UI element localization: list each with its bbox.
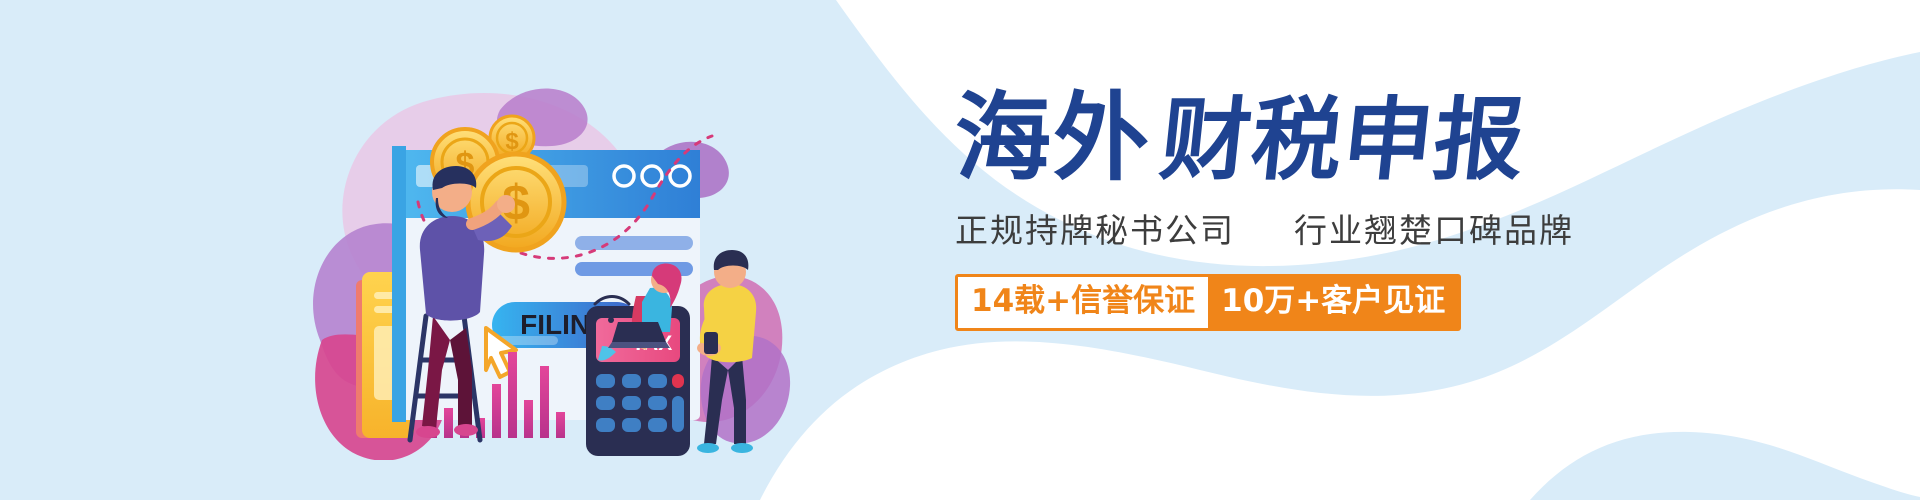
headline-part-1: 海外 [955, 90, 1151, 186]
illustration: FILING [300, 40, 800, 460]
badge-customers: 10万+客户见证 [1208, 277, 1458, 328]
subtitle-right: 行业翘楚口碑品牌 [1294, 211, 1574, 250]
promo-banner: FILING [0, 0, 1920, 500]
badge-group: 14载+信誉保证 10万+客户见证 [955, 274, 1461, 331]
headline-part-2: 财税申报 [1156, 96, 1529, 186]
subtitle: 正规持牌秘书公司 行业翘楚口碑品牌 [955, 204, 1855, 252]
badge-experience: 14载+信誉保证 [958, 277, 1208, 328]
headline: 海外 财税申报 [955, 70, 1855, 186]
copy-block: 海外 财税申报 正规持牌秘书公司 行业翘楚口碑品牌 14载+信誉保证 10万+客… [955, 70, 1855, 370]
coin-symbol: $ [505, 128, 519, 155]
tax-filing-scene: FILING [300, 40, 800, 460]
subtitle-left: 正规持牌秘书公司 [955, 211, 1235, 250]
